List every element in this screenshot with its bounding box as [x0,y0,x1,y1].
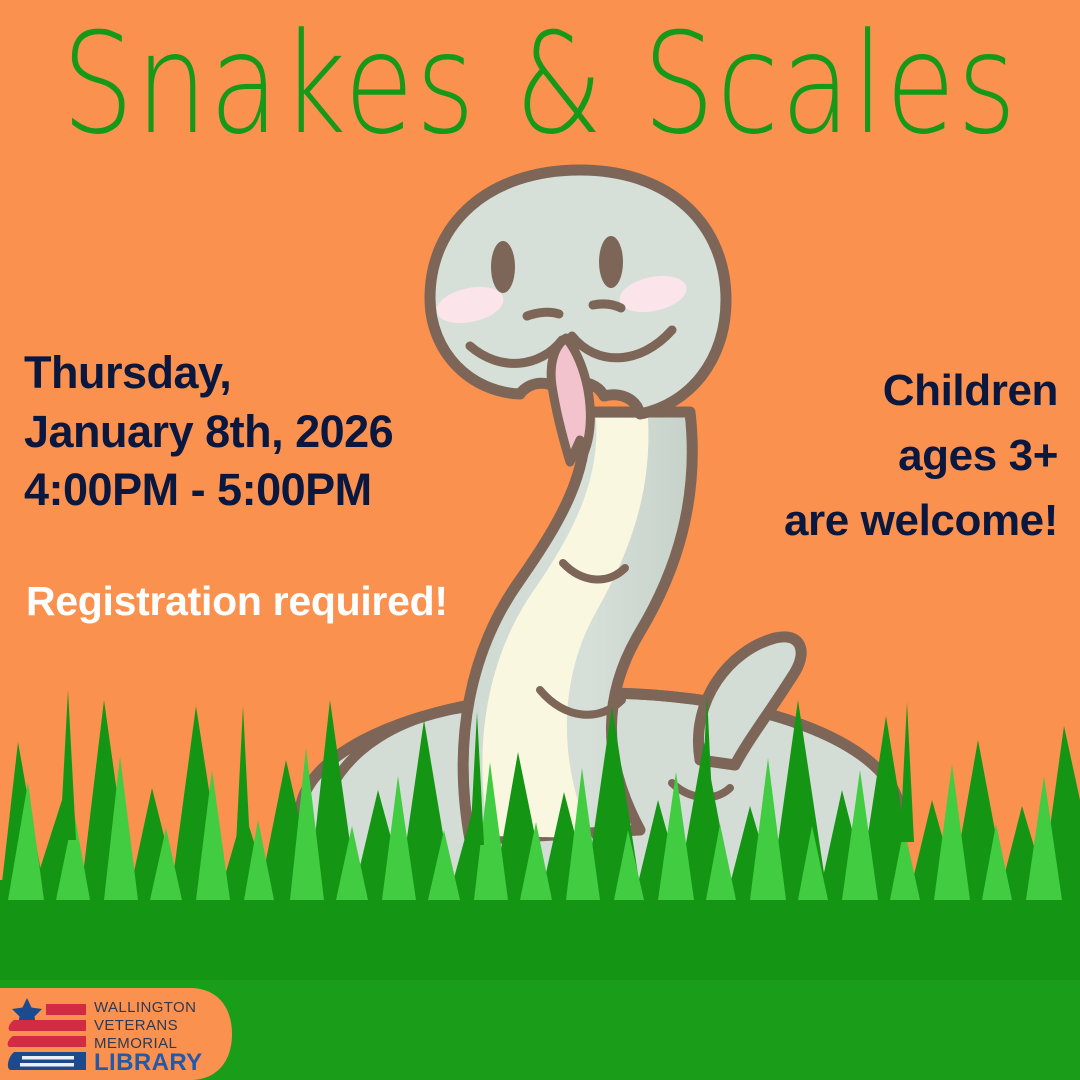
book-page-line-1 [22,1056,74,1060]
flag-stripe-3 [8,1036,86,1047]
book-page-line-2 [20,1063,74,1067]
event-poster: Snakes & Scales [0,0,1080,1080]
book-icon [8,1052,86,1070]
flag-stripe-1 [46,1004,86,1015]
logo-line-4: LIBRARY [94,1049,203,1076]
flag-stripe-2 [9,1020,86,1031]
library-logo[interactable]: WALLINGTON VETERANS MEMORIAL LIBRARY [0,988,232,1080]
grass-illustration [0,0,1080,1080]
logo-line-1: WALLINGTON [94,999,196,1016]
logo-line-2: VETERANS [94,1017,178,1034]
